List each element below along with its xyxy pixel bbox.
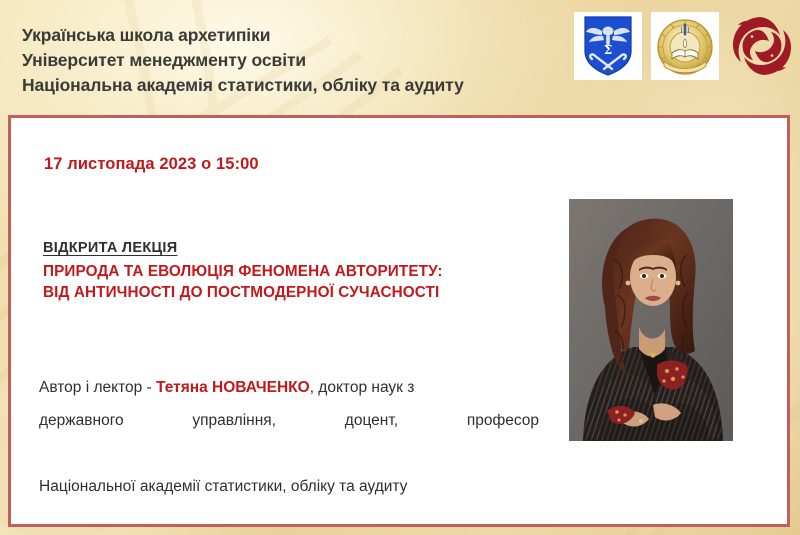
- author-name: Тетяна НОВАЧЕНКО: [156, 379, 310, 396]
- logo-group: Σ: [574, 12, 796, 80]
- red-archetype-spiral-logo: [728, 12, 796, 80]
- author-line-1-rest: , доктор наук з: [310, 379, 415, 396]
- poster-root: Українська школа архетипіки Університет …: [0, 0, 800, 535]
- lecture-kicker: ВІДКРИТА ЛЕКЦІЯ: [43, 240, 543, 256]
- event-datetime: 17 листопада 2023 о 15:00: [44, 155, 259, 174]
- author-line-3: Національної академії статистики, обліку…: [39, 470, 539, 503]
- author-description: Автор і лектор - Тетяна НОВАЧЕНКО, докто…: [39, 371, 539, 503]
- org-line-2: Університет менеджменту освіти: [22, 48, 567, 73]
- announcement-card: 17 листопада 2023 о 15:00 ВІДКРИТА ЛЕКЦІ…: [8, 115, 790, 527]
- org-line-3: Національна академія статистики, обліку …: [22, 73, 567, 98]
- author-line-2-text: державного управління, доцент, професор: [39, 412, 539, 429]
- org-line-1: Українська школа архетипіки: [22, 23, 567, 48]
- author-line-2: державного управління, доцент, професор: [39, 404, 539, 470]
- author-line-1: Автор і лектор - Тетяна НОВАЧЕНКО, докто…: [39, 371, 539, 404]
- organization-names: Українська школа архетипіки Університет …: [22, 23, 567, 98]
- svg-text:Σ: Σ: [604, 43, 612, 57]
- lecture-title-line-1: ПРИРОДА ТА ЕВОЛЮЦІЯ ФЕНОМЕНА АВТОРИТЕТУ:: [43, 261, 543, 282]
- blue-shield-emblem-logo: Σ: [574, 12, 642, 80]
- gold-academy-seal-logo: [651, 12, 719, 80]
- lecture-info: ВІДКРИТА ЛЕКЦІЯ ПРИРОДА ТА ЕВОЛЮЦІЯ ФЕНО…: [43, 240, 543, 303]
- lecturer-portrait: [569, 199, 733, 441]
- poster-header: Українська школа архетипіки Університет …: [0, 0, 800, 115]
- author-prefix: Автор і лектор -: [39, 379, 156, 396]
- lecture-title-line-2: ВІД АНТИЧНОСТІ ДО ПОСТМОДЕРНОЇ СУЧАСНОСТ…: [43, 282, 543, 303]
